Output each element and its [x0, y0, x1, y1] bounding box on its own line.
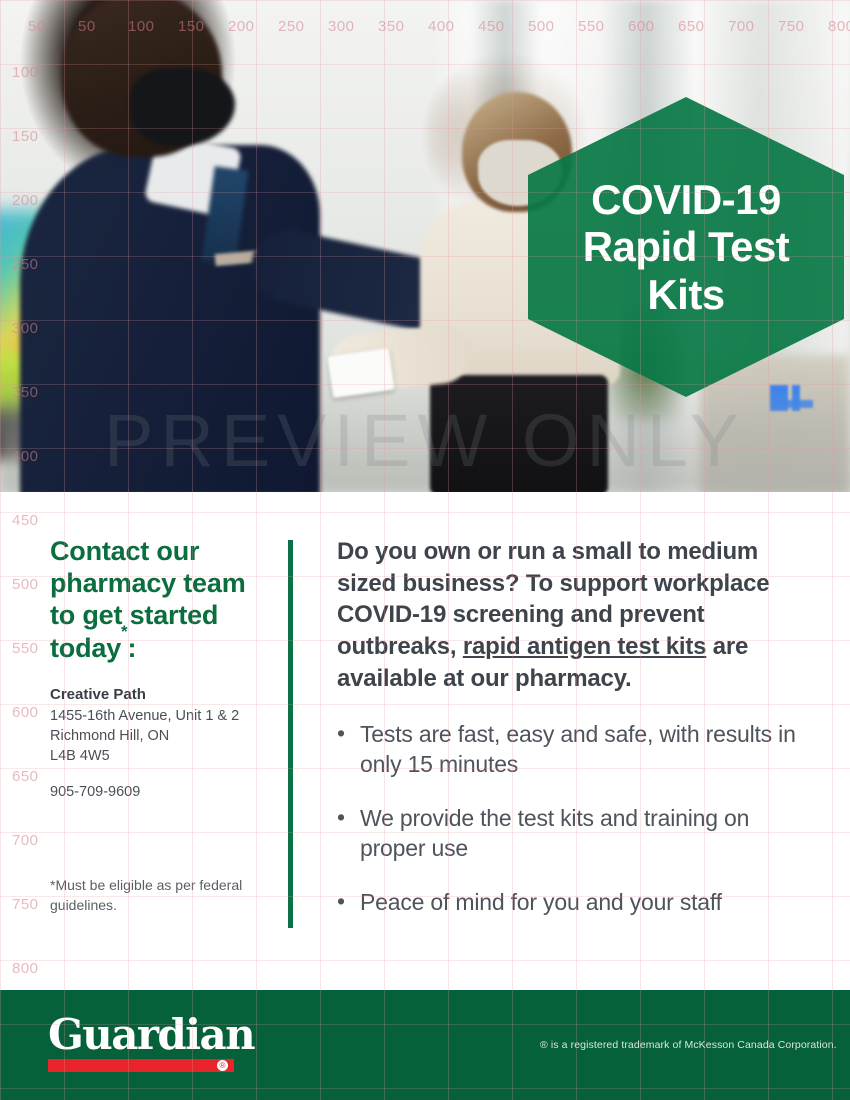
photo-person-woman-skirt: [430, 375, 608, 492]
list-item: Peace of mind for you and your staff: [337, 888, 800, 917]
badge-title: COVID-19 Rapid Test Kits: [565, 176, 808, 318]
registered-trademark-icon: ®: [217, 1060, 228, 1071]
intro-paragraph: Do you own or run a small to medium size…: [337, 536, 800, 694]
contact-column: Contact our pharmacy team to get started…: [50, 536, 288, 990]
intro-text-underlined: rapid antigen test kits: [463, 633, 706, 660]
flyer-page: PREVIEW ONLY COVID-19 Rapid Test Kits Co…: [0, 0, 850, 1100]
contact-heading-text: Contact our pharmacy team to get started…: [50, 536, 246, 663]
main-copy-column: Do you own or run a small to medium size…: [293, 536, 800, 990]
contact-heading: Contact our pharmacy team to get started…: [50, 536, 270, 664]
guardian-logo: Guardian ®: [48, 1014, 238, 1072]
list-item: We provide the test kits and training on…: [337, 804, 800, 863]
trademark-notice: ® is a registered trademark of McKesson …: [540, 1039, 837, 1051]
eligibility-disclaimer: *Must be eligible as per federal guideli…: [50, 876, 270, 916]
store-phone-number[interactable]: 905-709-9609: [50, 784, 270, 800]
badge-title-line-2: Rapid Test: [583, 223, 790, 270]
contact-heading-asterisk: *: [121, 622, 127, 641]
list-item: Tests are fast, easy and safe, with resu…: [337, 720, 800, 779]
store-address-line-3: L4B 4W5: [50, 746, 270, 766]
store-address-line-2: Richmond Hill, ON: [50, 726, 270, 746]
content-area: Contact our pharmacy team to get started…: [0, 492, 850, 990]
benefits-list: Tests are fast, easy and safe, with resu…: [337, 720, 800, 917]
store-name: Creative Path: [50, 686, 270, 703]
badge-title-line-1: COVID-19: [583, 176, 790, 223]
store-address-line-1: 1455-16th Avenue, Unit 1 & 2: [50, 706, 270, 726]
contact-heading-colon: :: [127, 633, 136, 663]
guardian-logo-red-bar: ®: [48, 1059, 234, 1072]
badge-title-line-3: Kits: [583, 271, 790, 318]
photo-test-kit-box: [327, 348, 394, 398]
guardian-logo-wordmark: Guardian: [48, 1014, 238, 1056]
